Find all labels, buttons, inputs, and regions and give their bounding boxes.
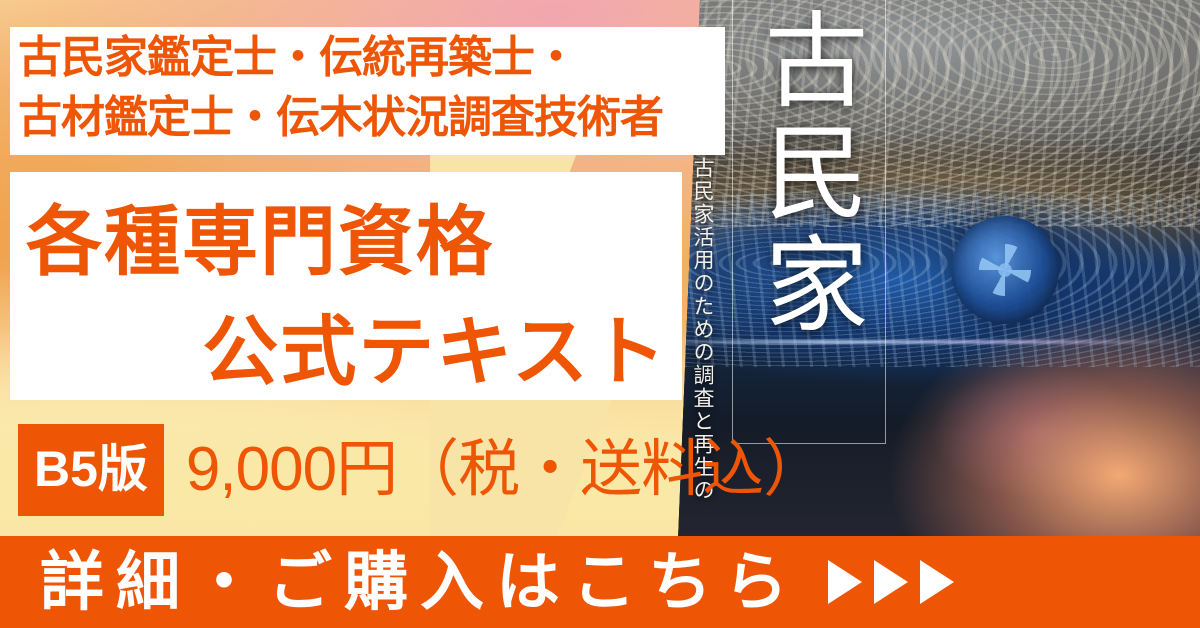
- triangle-right-icon: [920, 560, 954, 604]
- cta-button[interactable]: 詳細・ご購入はこちら: [0, 536, 1200, 628]
- cta-label: 詳細・ご購入はこちら: [40, 550, 800, 614]
- book-cover-title: 古民家: [748, 6, 868, 342]
- triangle-right-icon: [828, 560, 862, 604]
- subheading: 各種専門資格 公式テキスト: [26, 188, 686, 408]
- price-amount: 9,000円（税・送料込）: [186, 439, 824, 501]
- format-badge: B5版: [18, 424, 164, 516]
- subheading-line-2: 公式テキスト: [26, 298, 686, 408]
- headline: 古民家鑑定士・伝統再築士・ 古材鑑定士・伝木状況調査技術者: [18, 28, 718, 148]
- subheading-line-1: 各種専門資格: [26, 200, 494, 285]
- headline-line-2: 古材鑑定士・伝木状況調査技術者: [18, 88, 718, 148]
- cta-arrows: [828, 560, 954, 604]
- promo-banner: 古民家 伝統構法、古民家活用のための調査と再生の 古民家鑑定士・伝統再築士・ 古…: [0, 0, 1200, 628]
- triangle-right-icon: [874, 560, 908, 604]
- price-row: B5版 9,000円（税・送料込）: [18, 424, 824, 516]
- roof-tile-medallion-icon: [951, 216, 1059, 324]
- headline-line-1: 古民家鑑定士・伝統再築士・: [18, 28, 718, 88]
